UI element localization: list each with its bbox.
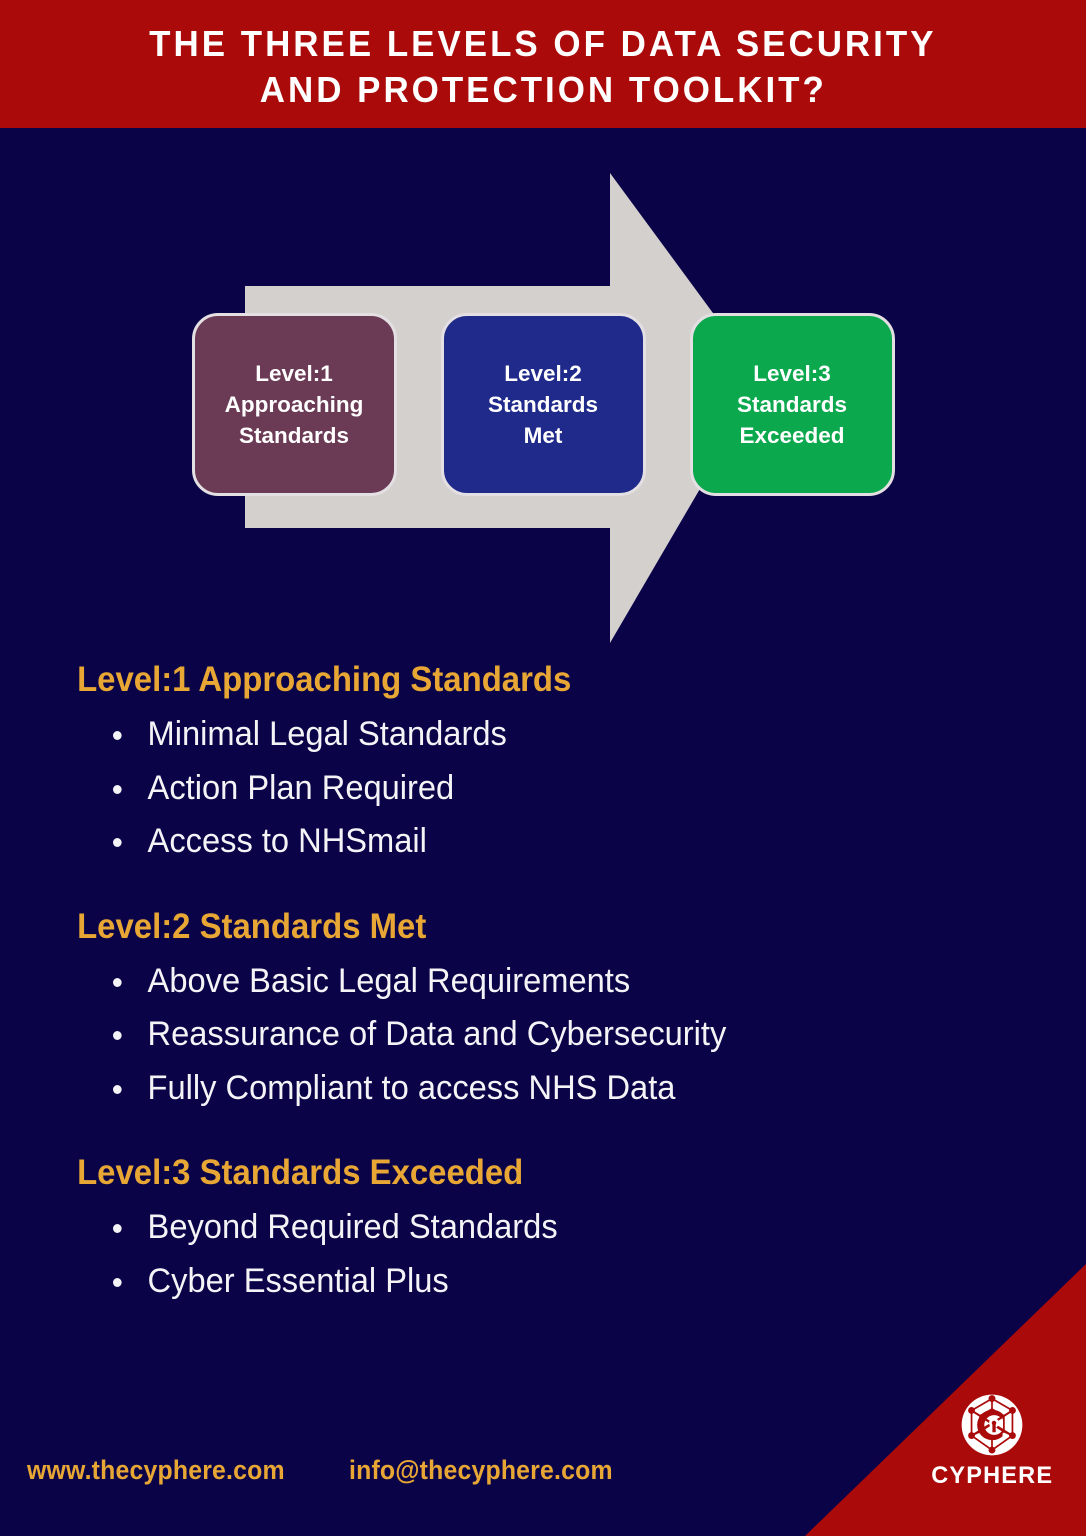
bullet-dot-icon <box>113 978 122 987</box>
cyphere-network-c-logo-icon <box>959 1392 1025 1458</box>
page-title-line-1: THE THREE LEVELS OF DATA SECURITY <box>149 21 936 67</box>
level-section-1-bullets: Minimal Legal Standards Action Plan Requ… <box>0 708 1086 869</box>
footer-contacts: www.thecyphere.com info@thecyphere.com <box>27 1455 636 1486</box>
level-card-3[interactable]: Level:3 Standards Exceeded <box>690 313 895 496</box>
list-item: Fully Compliant to access NHS Data <box>113 1062 1047 1116</box>
website-link[interactable]: www.thecyphere.com <box>27 1455 285 1486</box>
level-cards-row: Level:1 Approaching Standards Level:2 St… <box>0 313 1086 496</box>
brand-name-label: CYPHERE <box>931 1462 1053 1490</box>
list-item: Beyond Required Standards <box>113 1201 1047 1255</box>
list-item-label: Reassurance of Data and Cybersecurity <box>148 1015 727 1053</box>
level-section-1: Level:1 Approaching Standards Minimal Le… <box>0 658 1086 869</box>
list-item-label: Access to NHSmail <box>148 822 427 860</box>
level-card-2[interactable]: Level:2 Standards Met <box>441 313 646 496</box>
level-section-1-heading: Level:1 Approaching Standards <box>0 658 1021 702</box>
list-item-label: Cyber Essential Plus <box>148 1262 449 1300</box>
list-item: Access to NHSmail <box>113 815 1047 869</box>
email-link[interactable]: info@thecyphere.com <box>349 1455 613 1486</box>
bullet-dot-icon <box>113 1278 122 1287</box>
list-item: Above Basic Legal Requirements <box>113 955 1047 1009</box>
level-card-1[interactable]: Level:1 Approaching Standards <box>192 313 397 496</box>
level-card-3-label: Level:3 Standards Exceeded <box>737 358 847 451</box>
level-section-2-heading: Level:2 Standards Met <box>0 905 1021 949</box>
bullet-dot-icon <box>113 731 122 740</box>
page-title-line-2: AND PROTECTION TOOLKIT? <box>259 67 826 113</box>
levels-diagram: Level:1 Approaching Standards Level:2 St… <box>0 128 1086 658</box>
list-item: Minimal Legal Standards <box>113 708 1047 762</box>
list-item-label: Action Plan Required <box>148 769 455 807</box>
list-item: Action Plan Required <box>113 762 1047 816</box>
list-item-label: Above Basic Legal Requirements <box>148 962 631 1000</box>
level-section-3-heading: Level:3 Standards Exceeded <box>0 1151 1021 1195</box>
bullet-dot-icon <box>113 1031 122 1040</box>
level-section-2-bullets: Above Basic Legal Requirements Reassuran… <box>0 955 1086 1116</box>
bullet-dot-icon <box>113 838 122 847</box>
header-banner: THE THREE LEVELS OF DATA SECURITY AND PR… <box>0 0 1086 128</box>
level-card-1-label: Level:1 Approaching Standards <box>225 358 364 451</box>
bullet-dot-icon <box>113 785 122 794</box>
list-item-label: Fully Compliant to access NHS Data <box>148 1069 676 1107</box>
level-card-2-label: Level:2 Standards Met <box>488 358 598 451</box>
list-item-label: Beyond Required Standards <box>148 1208 558 1246</box>
levels-detail-list: Level:1 Approaching Standards Minimal Le… <box>0 658 1086 1308</box>
list-item-label: Minimal Legal Standards <box>148 715 507 753</box>
level-section-2: Level:2 Standards Met Above Basic Legal … <box>0 905 1086 1116</box>
bullet-dot-icon <box>113 1085 122 1094</box>
list-item: Reassurance of Data and Cybersecurity <box>113 1008 1047 1062</box>
bullet-dot-icon <box>113 1224 122 1233</box>
brand-logo: CYPHERE <box>922 1392 1062 1490</box>
